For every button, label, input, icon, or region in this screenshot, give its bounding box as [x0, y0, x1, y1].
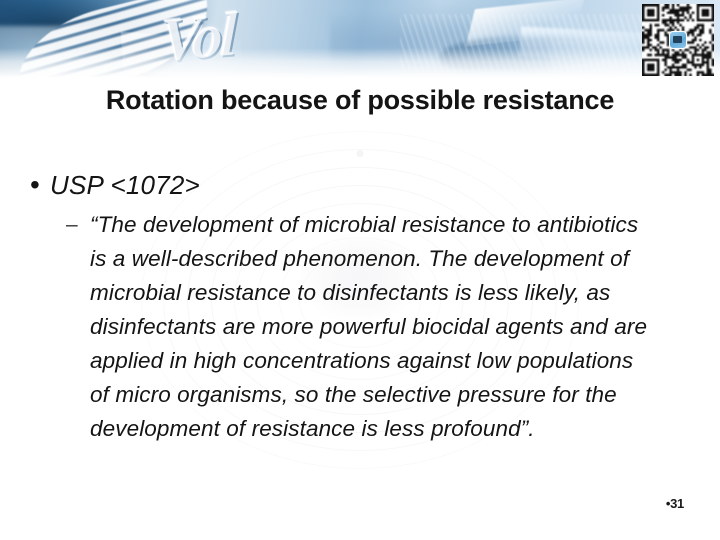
watermark-dot: [357, 150, 364, 157]
slide-canvas: Vol Rotation because of possible resista…: [0, 0, 720, 540]
slide-body: • USP <1072> – “The development of micro…: [24, 168, 696, 446]
dash-marker-icon: –: [66, 208, 90, 242]
bullet-level-2-text: “The development of microbial resistance…: [90, 208, 650, 446]
slide-number-value: 31: [670, 496, 684, 511]
bullet-level-1-text: USP <1072>: [50, 168, 200, 202]
bullet-level-1: • USP <1072>: [24, 168, 696, 202]
qr-center-logo: [669, 31, 687, 49]
slide-number: •31: [666, 496, 684, 511]
qr-code[interactable]: [642, 4, 714, 76]
page-title: Rotation because of possible resistance: [0, 85, 720, 116]
qr-center-logo-glyph: [673, 36, 682, 43]
bullet-marker-icon: •: [24, 168, 50, 202]
header-banner: Vol: [0, 0, 720, 78]
bullet-level-2: – “The development of microbial resistan…: [24, 208, 696, 446]
banner-bottom-fade: [0, 48, 720, 78]
